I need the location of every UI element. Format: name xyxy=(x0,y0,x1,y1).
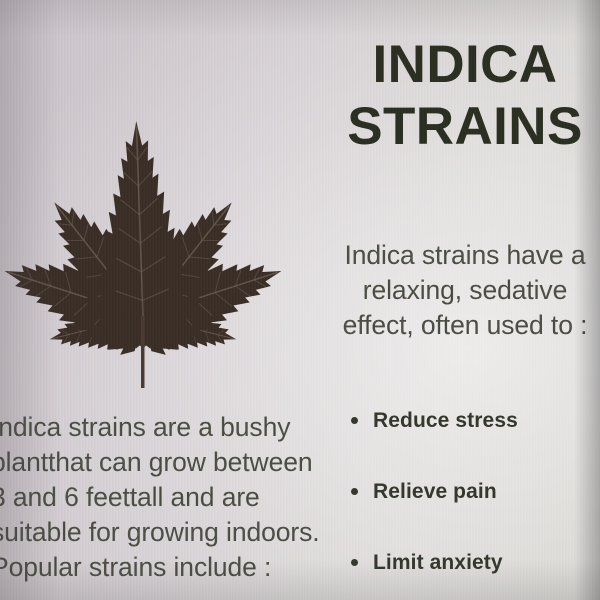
bullet-icon xyxy=(351,559,358,566)
bullet-icon xyxy=(351,417,358,424)
list-item-label: Limit anxiety xyxy=(373,551,503,575)
bullet-icon xyxy=(351,488,358,495)
list-item-label: Relieve pain xyxy=(373,480,497,504)
cannabis-leaf-silhouette xyxy=(0,28,316,388)
list-item: Reduce stress xyxy=(344,409,594,480)
list-item-label: Reduce stress xyxy=(373,409,518,433)
left-paragraph: Indica strains are a bushy plantthat can… xyxy=(0,410,336,585)
list-item: Relieve pain xyxy=(344,480,594,551)
benefits-list: Reduce stress Relieve pain Limit anxiety xyxy=(344,409,594,600)
list-item: Limit anxiety xyxy=(344,551,594,600)
slide-canvas: Indica strains are a bushy plantthat can… xyxy=(0,0,600,600)
page-title: INDICA STRAINS xyxy=(336,34,594,158)
intro-paragraph: Indica strains have a relaxing, sedative… xyxy=(336,238,594,343)
